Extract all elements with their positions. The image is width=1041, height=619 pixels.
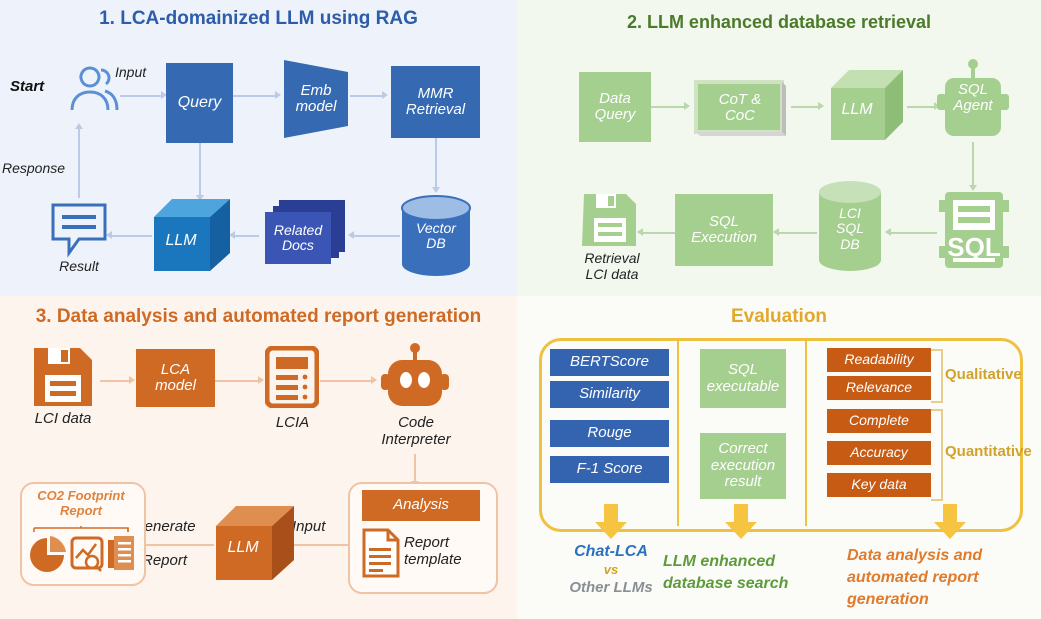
llm-node[interactable]: LLM: [152, 212, 210, 270]
panel-data-analysis-report: 3. Data analysis and automated report ge…: [0, 296, 517, 619]
retrieval-lci-data-label: Retrieval LCI data: [567, 250, 657, 282]
column-separator-1: [677, 338, 679, 526]
arrow-lcia-to-codeinterpreter: [320, 380, 372, 382]
cot-coc-node[interactable]: CoT & CoC: [696, 82, 784, 134]
caption-llm-enhanced: LLM enhanced: [663, 552, 823, 572]
arrow-query-to-llm: [199, 143, 201, 196]
column-separator-2: [805, 338, 807, 526]
metric-rouge[interactable]: Rouge: [550, 420, 669, 447]
data-query-node[interactable]: Data Query: [579, 72, 651, 142]
arrow-user-to-query: [120, 95, 162, 97]
arrow-llm-to-result: [110, 235, 152, 237]
vector-db-node[interactable]: Vector DB: [400, 204, 472, 268]
sql-execution-node[interactable]: SQL Execution: [675, 194, 773, 266]
arrow-lcisqldb-to-sqlexec-head: [773, 228, 779, 236]
arrow-sqlagent-to-sqlicon: [972, 142, 974, 186]
metric-readability[interactable]: Readability: [827, 348, 931, 372]
arrow-sqlicon-to-lcisqldb: [889, 232, 937, 234]
group-label-qualitative: Qualitative: [945, 366, 1022, 383]
report-template-icon: [362, 528, 400, 578]
sql-agent-node[interactable]: SQL Agent: [941, 72, 1005, 124]
result-label: Result: [48, 258, 110, 274]
arrow-mmr-to-vectordb-head: [432, 187, 440, 193]
floppy-disk-icon: [32, 346, 94, 408]
figure-root: 1. LCA-domainized LLM using RAG Start In…: [0, 0, 1041, 619]
mmr-retrieval-node[interactable]: MMR Retrieval: [391, 66, 480, 138]
metric-f1-score[interactable]: F-1 Score: [550, 456, 669, 483]
arrow-codeinterpreter-to-analysis: [414, 454, 416, 482]
panel-evaluation: Evaluation BERTScore Similarity Rouge F-…: [517, 296, 1041, 619]
arrow-analysis-to-llm: [288, 544, 348, 546]
caption-generation: generation: [847, 590, 1037, 610]
bracket-quantitative: [931, 409, 943, 501]
response-label: Response: [2, 160, 65, 176]
down-arrow-green-column: [723, 504, 759, 540]
arrow-lcamodel-to-lcia-head: [258, 376, 264, 384]
arrow-sqlexec-to-retrieval: [641, 232, 675, 234]
arrow-lcidata-to-lcamodel-head: [129, 376, 135, 384]
arrow-vectordb-to-docs: [352, 235, 400, 237]
panel-3-title: 3. Data analysis and automated report ge…: [0, 306, 517, 328]
caption-chat-lca: Chat-LCA: [551, 542, 671, 562]
metric-relevance[interactable]: Relevance: [827, 376, 931, 400]
arrow-query-to-emb: [233, 95, 276, 97]
caption-other-llms: Other LLMs: [547, 579, 675, 598]
down-arrow-orange-column: [932, 504, 968, 540]
arrow-cot-to-llm-head: [818, 102, 824, 110]
arrow-result-to-user-head: [75, 123, 83, 129]
arrow-emb-to-mmr-head: [382, 91, 388, 99]
arrow-llm-to-sqlagent: [907, 106, 935, 108]
lcia-document-icon: [265, 346, 319, 408]
arrow-lcisqldb-to-sqlexec: [777, 232, 817, 234]
arrow-lcamodel-to-lcia: [215, 380, 259, 382]
panel-1-title: 1. LCA-domainized LLM using RAG: [0, 8, 517, 30]
llm-node[interactable]: LLM: [829, 82, 885, 138]
related-docs-node[interactable]: Related Docs: [259, 212, 337, 264]
down-arrow-blue-column: [593, 504, 629, 540]
lca-model-node[interactable]: LCA model: [136, 349, 215, 407]
arrow-lcidata-to-lcamodel: [100, 380, 130, 382]
arrow-emb-to-mmr: [350, 95, 383, 97]
caption-automated-report: automated report: [847, 568, 1037, 588]
arrow-query-to-emb-head: [275, 91, 281, 99]
lcia-label: LCIA: [255, 414, 330, 431]
report-charts-icons: [26, 526, 136, 578]
co2-report-label: CO2 Footprint Report: [22, 488, 140, 518]
panel-2-title: 2. LLM enhanced database retrieval: [517, 12, 1041, 33]
start-label: Start: [10, 78, 44, 95]
caption-vs: vs: [551, 562, 671, 578]
panel-llm-enhanced-db-retrieval: 2. LLM enhanced database retrieval Data …: [517, 0, 1041, 296]
emb-model-node[interactable]: Emb model: [284, 62, 348, 136]
metric-complete[interactable]: Complete: [827, 409, 931, 433]
input-label: Input: [115, 64, 146, 80]
report-label: Report: [142, 552, 187, 569]
lci-sql-db-node[interactable]: LCI SQL DB: [817, 190, 883, 268]
sql-icon: SQL: [937, 190, 1011, 272]
code-interpreter-label: Code Interpreter: [370, 414, 462, 448]
metric-bertscore[interactable]: BERTScore: [550, 349, 669, 376]
arrow-lcia-to-codeinterpreter-head: [371, 376, 377, 384]
group-label-quantitative: Quantitative: [945, 443, 1032, 460]
arrow-cot-to-llm: [791, 106, 819, 108]
panel-4-title: Evaluation: [517, 306, 1041, 328]
analysis-node[interactable]: Analysis: [362, 490, 480, 521]
arrow-mmr-to-vectordb: [435, 138, 437, 188]
metric-accuracy[interactable]: Accuracy: [827, 441, 931, 465]
user-icon: [60, 60, 120, 114]
query-node[interactable]: Query: [166, 63, 233, 143]
report-template-label: Report template: [404, 534, 490, 568]
floppy-disk-icon: [582, 192, 638, 248]
metric-sql-executable[interactable]: SQL executable: [700, 349, 786, 408]
metric-key-data[interactable]: Key data: [827, 473, 931, 497]
arrow-dataquery-to-cot: [651, 106, 685, 108]
arrow-sqlicon-to-lcisqldb-head: [885, 228, 891, 236]
caption-data-analysis: Data analysis and: [847, 546, 1037, 566]
arrow-llm-to-co2report: [134, 544, 214, 546]
svg-text:SQL: SQL: [947, 232, 1001, 262]
arrow-result-to-user: [78, 128, 80, 198]
input-label: Input: [292, 518, 325, 535]
metric-correct-execution-result[interactable]: Correct execution result: [700, 433, 786, 499]
result-bubble-icon: [50, 202, 108, 258]
metric-similarity[interactable]: Similarity: [550, 381, 669, 408]
bracket-qualitative: [931, 349, 943, 403]
panel-lca-domainized-rag: 1. LCA-domainized LLM using RAG Start In…: [0, 0, 517, 296]
llm-node[interactable]: LLM: [214, 520, 272, 576]
caption-database-search: database search: [663, 574, 843, 594]
lci-data-label: LCI data: [18, 410, 108, 427]
arrow-dataquery-to-cot-head: [684, 102, 690, 110]
arrow-docs-to-llm: [233, 235, 259, 237]
robot-icon: [380, 342, 450, 412]
